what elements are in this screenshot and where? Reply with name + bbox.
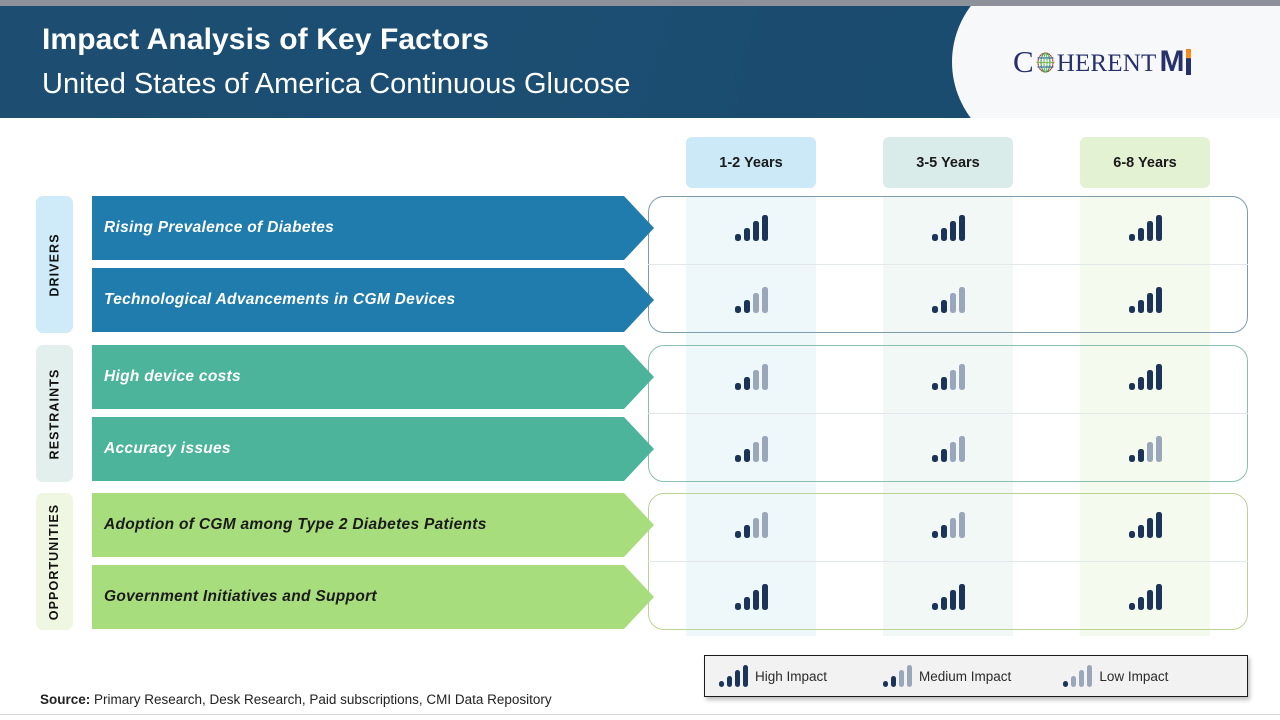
impact-cell[interactable] (883, 417, 1013, 481)
impact-bars-icon (1063, 665, 1092, 687)
factor-label: High device costs (104, 368, 241, 386)
panel-row-divider (648, 413, 1248, 414)
panel-row-divider (648, 264, 1248, 265)
impact-bars-icon (1129, 287, 1162, 313)
legend-label: High Impact (755, 669, 827, 684)
impact-bars-icon (932, 287, 965, 313)
factor-arrow-restraints-0[interactable]: High device costs (92, 345, 654, 409)
logo-text-mi: M (1159, 47, 1184, 77)
impact-bars-icon (932, 364, 965, 390)
column-header-3-5-years[interactable]: 3-5 Years (883, 137, 1013, 188)
impact-bars-icon (1129, 215, 1162, 241)
factor-arrow-restraints-1[interactable]: Accuracy issues (92, 417, 654, 481)
category-label-restraints: RESTRAINTS (36, 345, 73, 482)
impact-bars-icon (932, 436, 965, 462)
legend-label: Low Impact (1099, 669, 1168, 684)
impact-cell[interactable] (686, 268, 816, 332)
globe-icon (1035, 52, 1056, 73)
impact-cell[interactable] (686, 493, 816, 557)
impact-bars-icon (735, 364, 768, 390)
logo-accent-bar-icon (1186, 49, 1191, 75)
header-titles: Impact Analysis of Key Factors United St… (42, 18, 630, 106)
page-subtitle: United States of America Continuous Gluc… (42, 62, 630, 106)
category-label-text: OPPORTUNITIES (48, 503, 62, 619)
impact-cell[interactable] (1080, 493, 1210, 557)
legend-item-low[interactable]: Low Impact (1063, 665, 1168, 687)
impact-bars-icon (1129, 584, 1162, 610)
impact-cell[interactable] (883, 196, 1013, 260)
column-header-6-8-years[interactable]: 6-8 Years (1080, 137, 1210, 188)
impact-cell[interactable] (686, 196, 816, 260)
impact-bars-icon (735, 287, 768, 313)
group-restraints: RESTRAINTS High device costs Accuracy is… (36, 345, 1248, 482)
legend-item-high[interactable]: High Impact (719, 665, 827, 687)
category-label-drivers: DRIVERS (36, 196, 73, 333)
impact-bars-icon (735, 436, 768, 462)
factor-label: Rising Prevalence of Diabetes (104, 219, 334, 237)
factor-label: Technological Advancements in CGM Device… (104, 291, 455, 309)
brand-logo[interactable]: C HERENT M (1013, 44, 1191, 78)
impact-cell[interactable] (1080, 268, 1210, 332)
impact-cell[interactable] (1080, 345, 1210, 409)
column-headers: 1-2 Years 3-5 Years 6-8 Years (0, 137, 1280, 191)
factor-arrow-drivers-0[interactable]: Rising Prevalence of Diabetes (92, 196, 654, 260)
source-text: Primary Research, Desk Research, Paid su… (90, 692, 551, 707)
impact-cell[interactable] (1080, 196, 1210, 260)
impact-cell[interactable] (883, 345, 1013, 409)
impact-cell[interactable] (686, 565, 816, 629)
impact-bars-icon (735, 512, 768, 538)
impact-cell[interactable] (1080, 565, 1210, 629)
impact-matrix: 1-2 Years 3-5 Years 6-8 Years DRIVERS Ri… (0, 118, 1280, 720)
slide-canvas: Impact Analysis of Key Factors United St… (0, 0, 1280, 720)
impact-bars-icon (932, 215, 965, 241)
category-label-opportunities: OPPORTUNITIES (36, 493, 73, 630)
impact-bars-icon (1129, 436, 1162, 462)
impact-cell[interactable] (686, 345, 816, 409)
column-header-1-2-years[interactable]: 1-2 Years (686, 137, 816, 188)
factor-label: Government Initiatives and Support (104, 588, 377, 606)
group-opportunities: OPPORTUNITIES Adoption of CGM among Type… (36, 493, 1248, 630)
category-label-text: DRIVERS (48, 233, 62, 296)
panel-row-divider (648, 561, 1248, 562)
category-label-text: RESTRAINTS (48, 368, 62, 459)
page-title: Impact Analysis of Key Factors (42, 18, 630, 62)
logo-letter-c: C (1013, 46, 1034, 77)
factor-arrow-opportunities-0[interactable]: Adoption of CGM among Type 2 Diabetes Pa… (92, 493, 654, 557)
impact-cell[interactable] (686, 417, 816, 481)
impact-bars-icon (932, 584, 965, 610)
factor-arrow-drivers-1[interactable]: Technological Advancements in CGM Device… (92, 268, 654, 332)
logo-text-oherent: HERENT (1057, 51, 1157, 76)
impact-cell[interactable] (883, 493, 1013, 557)
legend: High Impact Medium Impact Low Impact (704, 655, 1248, 697)
impact-bars-icon (735, 584, 768, 610)
impact-cell[interactable] (1080, 417, 1210, 481)
source-footer: Source: Primary Research, Desk Research,… (40, 692, 552, 707)
factor-label: Adoption of CGM among Type 2 Diabetes Pa… (104, 516, 487, 534)
footer-divider (0, 714, 1280, 715)
slide-header: Impact Analysis of Key Factors United St… (0, 6, 1280, 118)
impact-bars-icon (1129, 512, 1162, 538)
legend-label: Medium Impact (919, 669, 1011, 684)
impact-bars-icon (719, 665, 748, 687)
group-drivers: DRIVERS Rising Prevalence of Diabetes Te… (36, 196, 1248, 333)
impact-bars-icon (932, 512, 965, 538)
impact-cell[interactable] (883, 268, 1013, 332)
impact-bars-icon (1129, 364, 1162, 390)
legend-item-medium[interactable]: Medium Impact (883, 665, 1011, 687)
factor-label: Accuracy issues (104, 440, 231, 458)
impact-cell[interactable] (883, 565, 1013, 629)
factor-arrow-opportunities-1[interactable]: Government Initiatives and Support (92, 565, 654, 629)
impact-bars-icon (883, 665, 912, 687)
impact-bars-icon (735, 215, 768, 241)
source-label: Source: (40, 692, 90, 707)
